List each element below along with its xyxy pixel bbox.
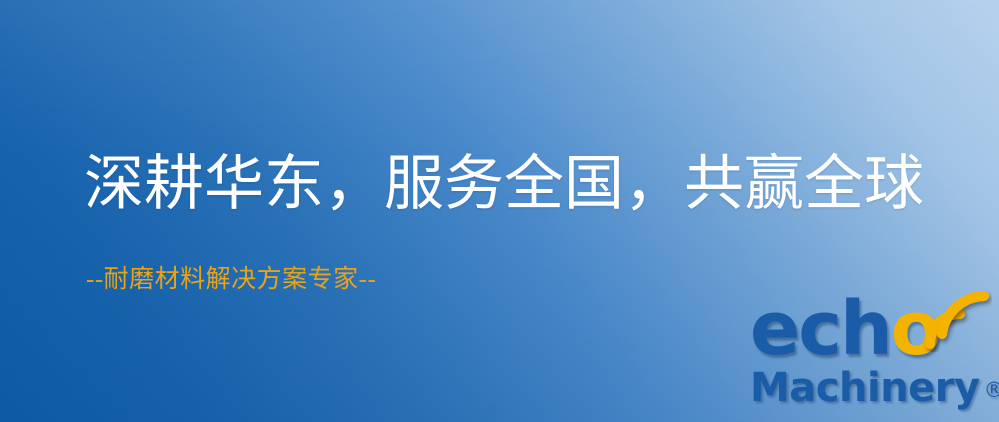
banner-subtitle: --耐磨材料解决方案专家-- — [86, 265, 376, 295]
echo-machinery-logo: echo — [748, 296, 999, 422]
logo-wordmark: echo — [748, 296, 999, 376]
banner-headline: 深耕华东，服务全国，共赢全球 — [84, 152, 924, 217]
logo-tagline: Machinery® — [750, 368, 999, 408]
logo-brand-prefix: ech — [750, 286, 891, 372]
echo-signal-waves-icon — [920, 290, 992, 352]
registered-trademark-icon: ® — [984, 378, 999, 402]
logo-machinery-text: Machinery — [750, 365, 980, 411]
promo-banner: 深耕华东，服务全国，共赢全球 --耐磨材料解决方案专家-- echo — [0, 0, 999, 422]
logo-brand-name: echo — [750, 292, 940, 366]
